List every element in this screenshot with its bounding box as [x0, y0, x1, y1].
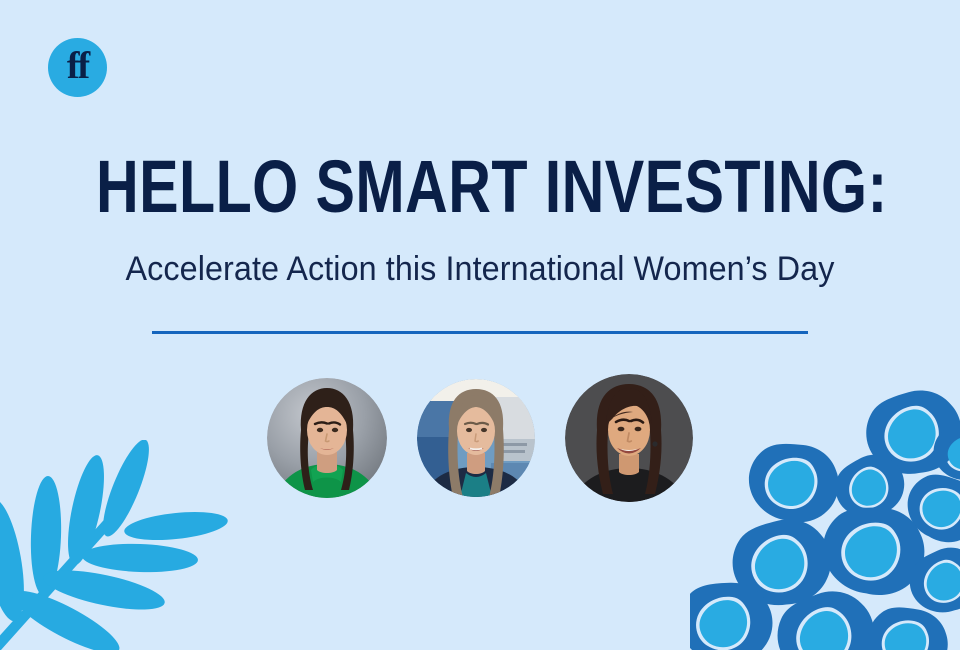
- speaker-portrait-3: [565, 374, 693, 502]
- promo-banner: ff HELLO SMART INVESTING: Accelerate Act…: [0, 0, 960, 650]
- ff-monogram-logo[interactable]: ff: [48, 38, 107, 97]
- divider-rule: [152, 331, 808, 334]
- speaker-portrait-1: [267, 378, 387, 498]
- page-title: HELLO SMART INVESTING:: [96, 150, 864, 224]
- page-subtitle: Accelerate Action this International Wom…: [24, 250, 936, 289]
- speaker-portrait-row: [0, 368, 960, 508]
- logo-mark-text: ff: [67, 47, 88, 85]
- speaker-portrait-2: [417, 379, 535, 497]
